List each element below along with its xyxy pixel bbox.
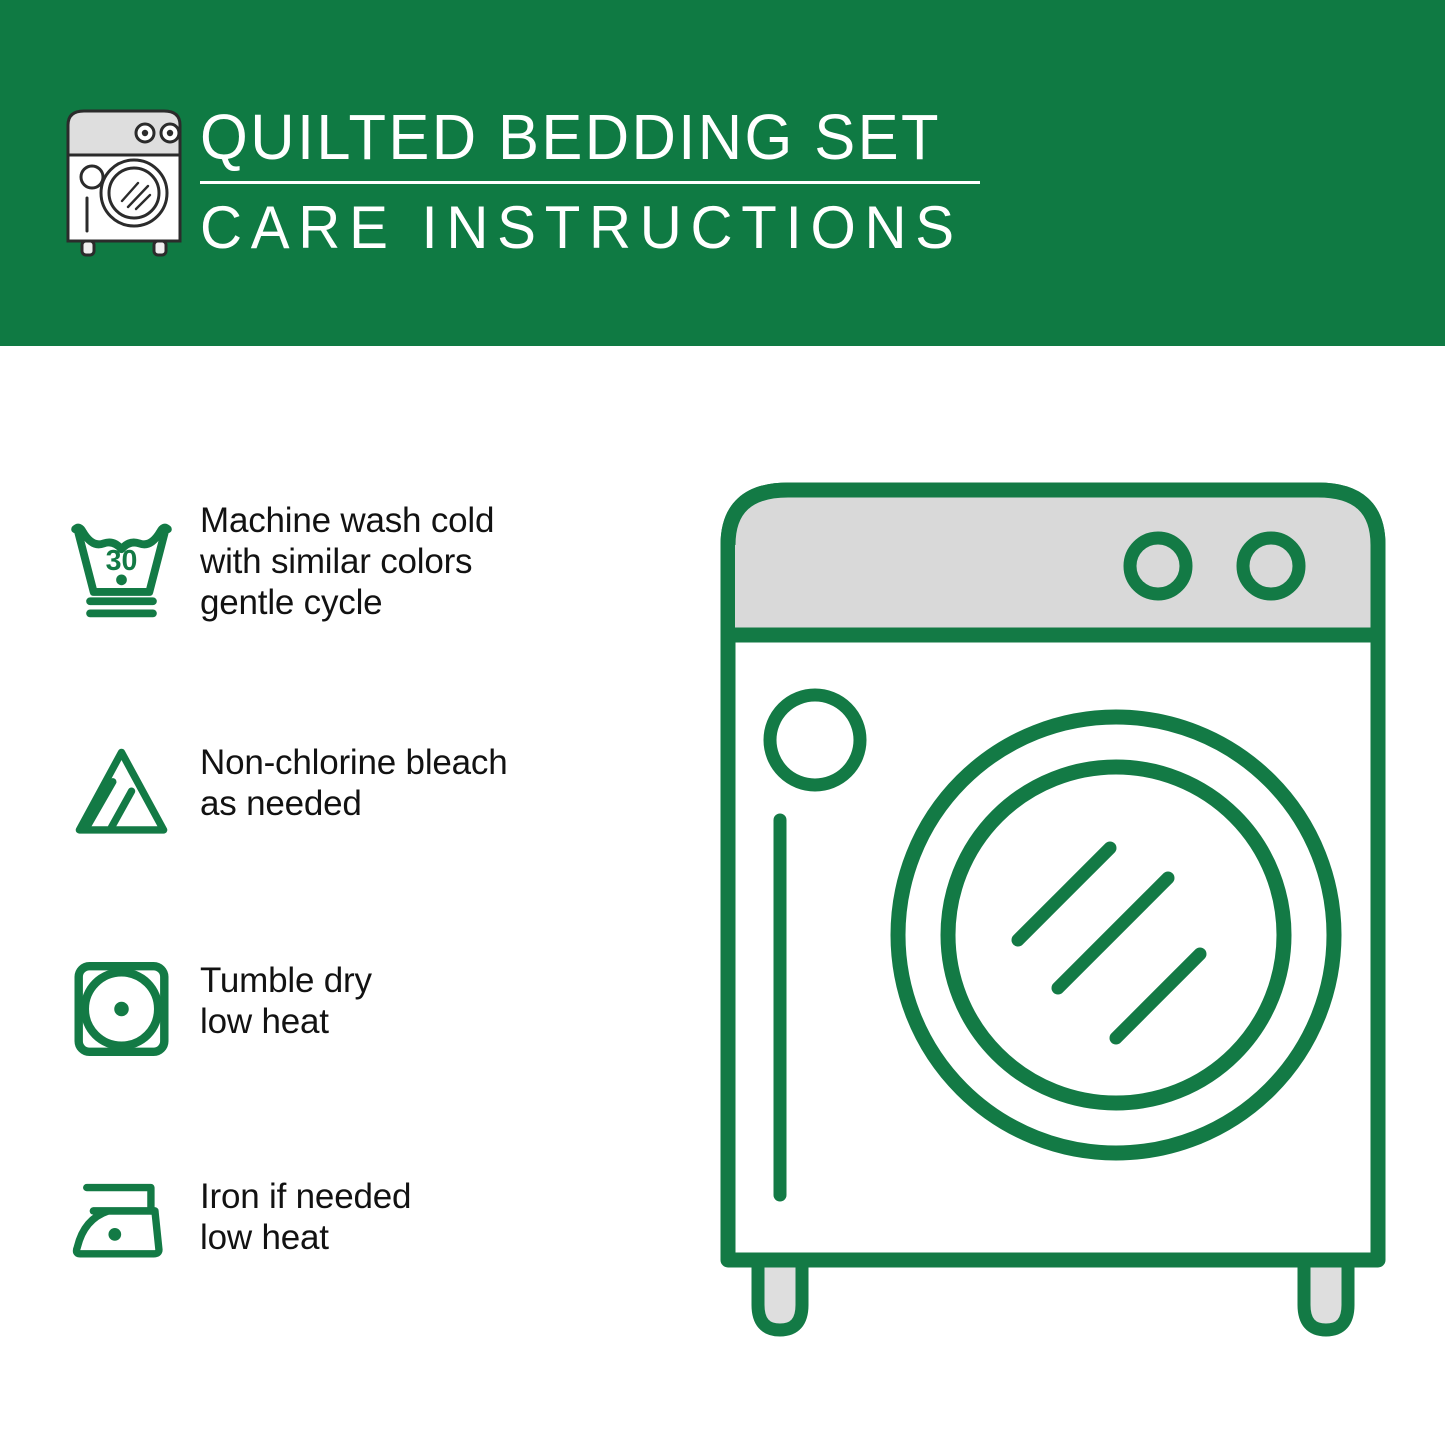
page-title: QUILTED BEDDING SET <box>200 100 968 174</box>
care-row: Tumble dry low heat <box>0 934 700 1084</box>
care-instruction-list: 30 Machine wash cold with similar colors… <box>0 346 700 1445</box>
care-label: Non-chlorine bleach as needed <box>175 716 508 824</box>
washing-machine-icon <box>62 103 194 258</box>
care-label: Iron if needed low heat <box>175 1146 411 1258</box>
iron-low-heat-icon <box>0 1146 175 1296</box>
page-subtitle: CARE INSTRUCTIONS <box>200 195 976 261</box>
care-label-line: Non-chlorine bleach <box>200 742 508 783</box>
control-panel <box>735 497 1371 635</box>
care-row: Non-chlorine bleach as needed <box>0 716 700 866</box>
care-label-line: Machine wash cold <box>200 500 494 541</box>
care-label: Machine wash cold with similar colors ge… <box>175 494 494 623</box>
header-band: QUILTED BEDDING SET CARE INSTRUCTIONS <box>0 0 1445 346</box>
care-label: Tumble dry low heat <box>175 934 372 1042</box>
care-label-line: with similar colors <box>200 541 494 582</box>
care-label-line: gentle cycle <box>200 582 494 623</box>
header-text-block: QUILTED BEDDING SET CARE INSTRUCTIONS <box>200 100 1000 261</box>
care-label-line: Tumble dry <box>200 960 372 1001</box>
title-divider <box>200 181 980 184</box>
care-instructions-poster: QUILTED BEDDING SET CARE INSTRUCTIONS <box>0 0 1445 1445</box>
care-label-line: Iron if needed <box>200 1176 411 1217</box>
care-label-line: low heat <box>200 1217 411 1258</box>
front-load-washing-machine-illustration <box>718 470 1418 1370</box>
care-label-line: low heat <box>200 1001 372 1042</box>
wash-temp-value: 30 <box>106 544 138 576</box>
care-label-line: as needed <box>200 783 508 824</box>
tumble-dry-low-heat-icon <box>0 934 175 1084</box>
care-row: Iron if needed low heat <box>0 1146 700 1296</box>
care-row: 30 Machine wash cold with similar colors… <box>0 494 700 644</box>
wash-tub-30-gentle-icon: 30 <box>0 494 175 644</box>
non-chlorine-bleach-triangle-icon <box>0 716 175 866</box>
